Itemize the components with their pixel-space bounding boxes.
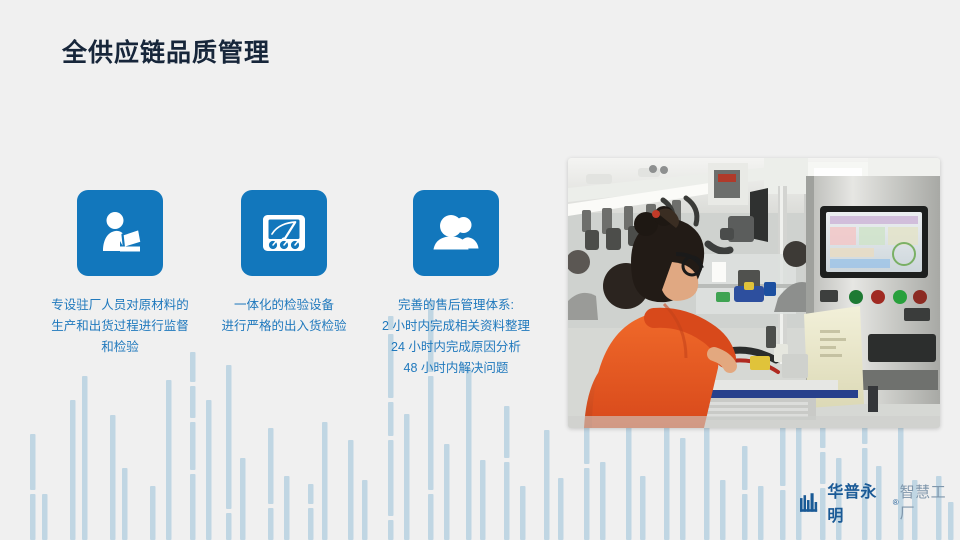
two-people-icon xyxy=(413,190,499,276)
page-title: 全供应链品质管理 xyxy=(62,33,270,69)
feature-item-aftersales: 完善的售后管理体系: 2 小时内完成相关资料整理 24 小时内完成原因分析 48… xyxy=(352,190,560,379)
slide-root: 全供应链品质管理 专设驻厂人员对原材料的 生产和出货过程进行监督 和检验 xyxy=(0,0,960,540)
logo-brand-text: 华普永明 xyxy=(827,478,891,526)
feature-caption: 完善的售后管理体系: 2 小时内完成相关资料整理 24 小时内完成原因分析 48… xyxy=(352,295,560,379)
person-reading-document-icon xyxy=(77,190,163,276)
feature-list: 专设驻厂人员对原材料的 生产和出货过程进行监督 和检验 一体 xyxy=(0,190,560,400)
gauge-meter-icon xyxy=(241,190,327,276)
brand-logo: 华普永明®智慧工厂 xyxy=(800,489,960,515)
logo-tagline-text: 智慧工厂 xyxy=(900,481,960,523)
logo-registered-mark: ® xyxy=(893,498,899,507)
factory-production-line-photo xyxy=(568,158,940,428)
building-bars-logo-mark xyxy=(800,492,821,512)
